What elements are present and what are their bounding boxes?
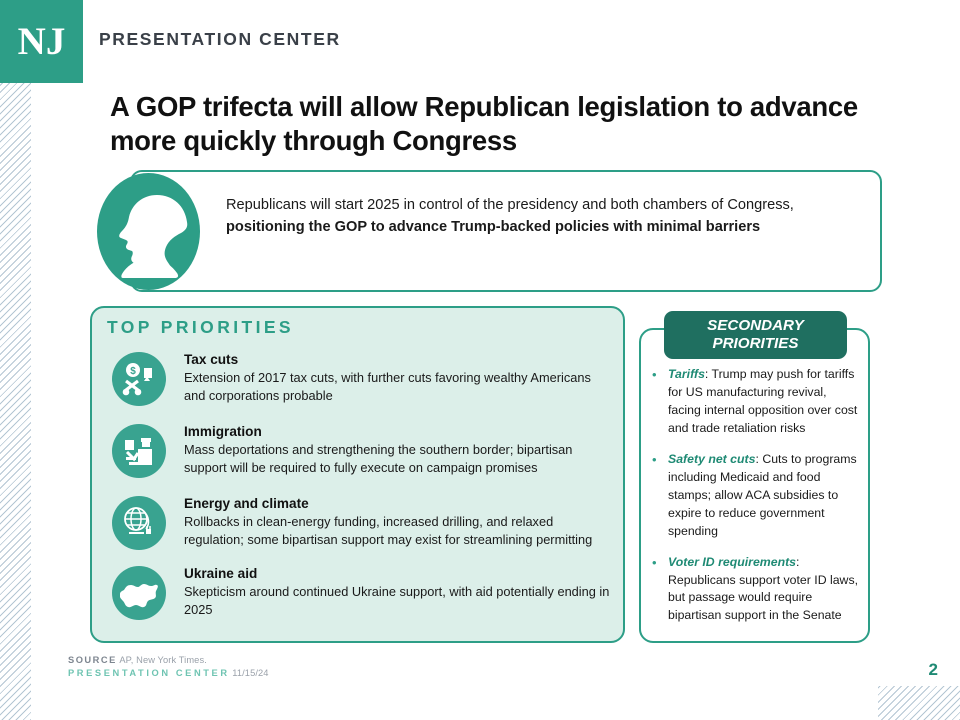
border-officer-icon [112, 424, 166, 478]
list-item[interactable]: • Voter ID requirements: Republicans sup… [652, 554, 860, 626]
decorative-hatch-left [0, 83, 31, 720]
priority-item-immigration[interactable]: Immigration Mass deportations and streng… [112, 424, 614, 478]
bullet-glyph: • [652, 451, 668, 541]
list-item-key: Voter ID requirements [668, 555, 796, 569]
presentation-center-line: PRESENTATION CENTER 11/15/24 [68, 667, 269, 680]
callout-text-bold: positioning the GOP to advance Trump-bac… [226, 219, 760, 235]
secondary-priorities-badge: SECONDARY PRIORITIES [664, 311, 847, 359]
money-scissors-icon: $ [112, 352, 166, 406]
priority-title: Tax cuts [184, 352, 614, 367]
bullet-glyph: • [652, 554, 668, 626]
footer: SOURCE AP, New York Times. PRESENTATION … [68, 654, 269, 681]
bullet-glyph: • [652, 366, 668, 438]
slide-canvas: NJ PRESENTATION CENTER A GOP trifecta wi… [0, 0, 960, 720]
priority-item-tax-cuts[interactable]: $ Tax cuts Extension of 2017 tax cuts, w… [112, 352, 614, 406]
decorative-hatch-bottom-right [878, 686, 960, 720]
list-item-key: Tariffs [668, 367, 705, 381]
ukraine-map-icon [112, 566, 166, 620]
callout-text: Republicans will start 2025 in control o… [226, 194, 870, 239]
trump-silhouette-icon [97, 173, 200, 290]
priority-title: Ukraine aid [184, 566, 614, 581]
secondary-priorities-list: • Tariffs: Trump may push for tariffs fo… [652, 366, 860, 638]
top-priorities-heading: TOP PRIORITIES [107, 317, 294, 338]
callout-text-plain: Republicans will start 2025 in control o… [226, 197, 794, 213]
presentation-date: 11/15/24 [232, 668, 268, 678]
list-item-text: Safety net cuts: Cuts to programs includ… [668, 451, 860, 541]
priority-item-energy-climate[interactable]: Energy and climate Rollbacks in clean-en… [112, 496, 614, 550]
priority-desc: Extension of 2017 tax cuts, with further… [184, 369, 614, 405]
svg-text:$: $ [130, 366, 136, 377]
page-number: 2 [929, 660, 938, 680]
logo-nj: NJ [0, 0, 83, 83]
priority-desc: Rollbacks in clean-energy funding, incre… [184, 513, 614, 549]
priority-title: Immigration [184, 424, 614, 439]
list-item-key: Safety net cuts [668, 452, 755, 466]
globe-plug-icon [112, 496, 166, 550]
secondary-heading-line1: SECONDARY [707, 317, 804, 335]
list-item-text: Tariffs: Trump may push for tariffs for … [668, 366, 860, 438]
list-item[interactable]: • Safety net cuts: Cuts to programs incl… [652, 451, 860, 541]
list-item[interactable]: • Tariffs: Trump may push for tariffs fo… [652, 366, 860, 438]
list-item-body: Republicans support voter ID laws, but p… [668, 573, 858, 623]
priority-title: Energy and climate [184, 496, 614, 511]
brand-title: PRESENTATION CENTER [99, 29, 341, 50]
source-label: SOURCE [68, 655, 117, 665]
presentation-center-label: PRESENTATION CENTER [68, 668, 230, 678]
priority-body: Tax cuts Extension of 2017 tax cuts, wit… [184, 352, 614, 405]
priority-body: Ukraine aid Skepticism around continued … [184, 566, 614, 619]
priority-body: Energy and climate Rollbacks in clean-en… [184, 496, 614, 549]
list-item-sep: : [705, 367, 712, 381]
list-item-sep: : [796, 555, 799, 569]
priority-desc: Skepticism around continued Ukraine supp… [184, 583, 614, 619]
source-line: SOURCE AP, New York Times. [68, 654, 269, 667]
priority-item-ukraine-aid[interactable]: Ukraine aid Skepticism around continued … [112, 566, 614, 620]
priority-desc: Mass deportations and strengthening the … [184, 441, 614, 477]
priority-body: Immigration Mass deportations and streng… [184, 424, 614, 477]
page-title: A GOP trifecta will allow Republican leg… [110, 90, 900, 157]
secondary-heading-line2: PRIORITIES [712, 335, 798, 353]
list-item-text: Voter ID requirements: Republicans suppo… [668, 554, 860, 626]
source-value: AP, New York Times. [119, 655, 207, 665]
